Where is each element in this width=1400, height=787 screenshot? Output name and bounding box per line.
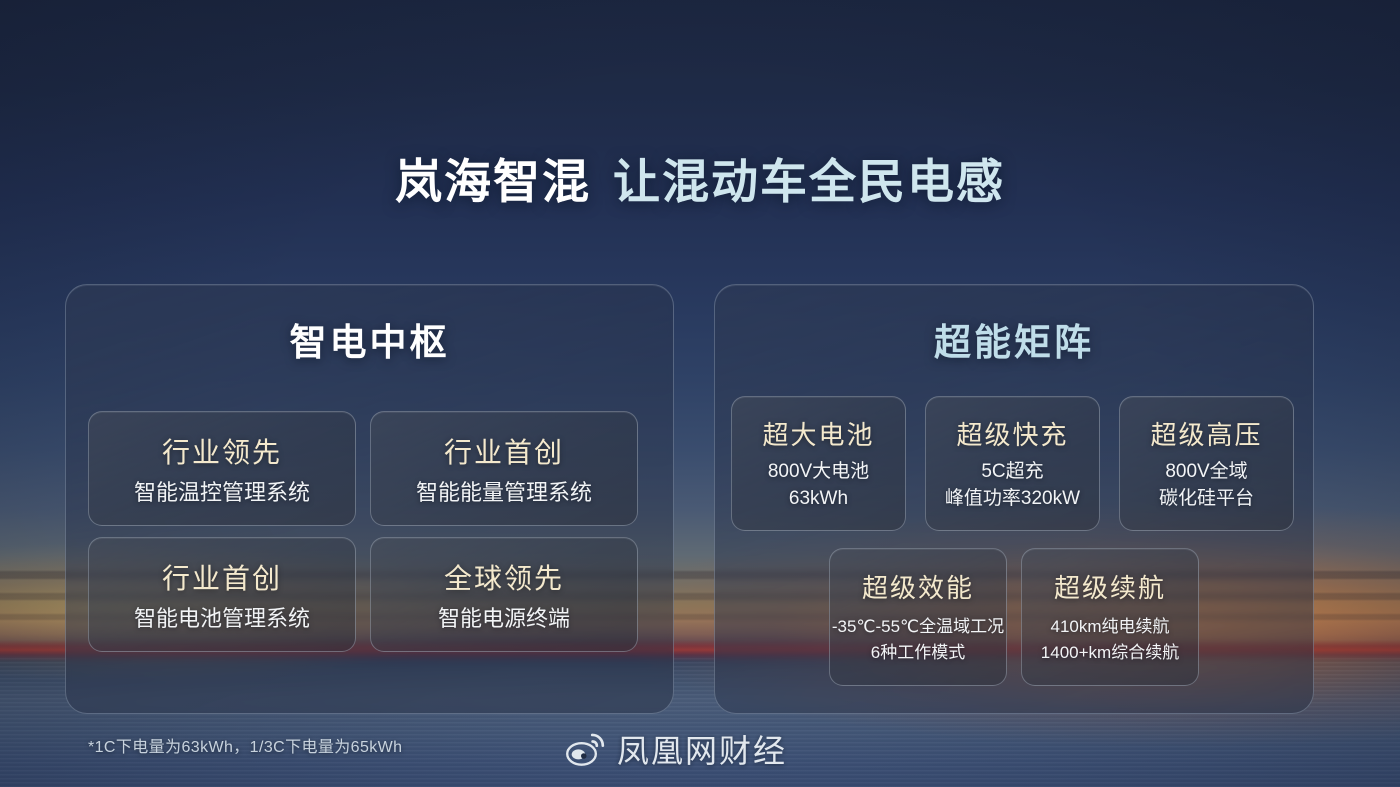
feature-card-title: 超级续航 (1054, 568, 1166, 605)
slide-title-main: 岚海智混 (395, 155, 591, 208)
feature-card-title: 超级效能 (862, 568, 974, 605)
watermark-text: 凤凰网财经 (617, 726, 787, 772)
feature-card-line: 63kWh (789, 486, 848, 513)
feature-card-title: 行业领先 (162, 431, 282, 471)
slide-title-sub: 让混动车全民电感 (613, 155, 1005, 208)
feature-card-line: 智能温控管理系统 (134, 475, 310, 507)
feature-card[interactable]: 全球领先 智能电源终端 (370, 537, 638, 652)
feature-card[interactable]: 超级快充 5C超充 峰值功率320kW (925, 396, 1100, 531)
feature-card[interactable]: 行业首创 智能能量管理系统 (370, 411, 638, 526)
feature-card[interactable]: 超级续航 410km纯电续航 1400+km综合续航 (1021, 548, 1199, 686)
feature-card-title: 全球领先 (444, 557, 564, 597)
feature-card-title: 超级快充 (956, 415, 1068, 452)
panel-right-title: 超能矩阵 (715, 312, 1313, 366)
feature-card-line: -35℃-55℃全温域工况 (832, 614, 1004, 640)
feature-card-line: 410km纯电续航 (1050, 614, 1169, 640)
feature-card-line: 碳化硅平台 (1159, 486, 1254, 513)
feature-card[interactable]: 行业首创 智能电池管理系统 (88, 537, 356, 652)
weibo-icon (566, 732, 606, 766)
feature-card[interactable]: 超级效能 -35℃-55℃全温域工况 6种工作模式 (829, 548, 1007, 686)
watermark: 凤凰网财经 (566, 726, 787, 772)
slide-title: 岚海智混让混动车全民电感 (0, 143, 1400, 212)
feature-card[interactable]: 超大电池 800V大电池 63kWh (731, 396, 906, 531)
feature-card[interactable]: 超级高压 800V全域 碳化硅平台 (1119, 396, 1294, 531)
feature-card-line: 峰值功率320kW (945, 486, 1080, 513)
feature-card-title: 超大电池 (762, 415, 874, 452)
feature-card-line: 6种工作模式 (871, 640, 965, 666)
feature-card-line: 智能电池管理系统 (134, 601, 310, 633)
feature-card-line: 5C超充 (981, 459, 1043, 486)
panel-left-title: 智电中枢 (66, 312, 673, 366)
feature-card-line: 1400+km综合续航 (1041, 640, 1179, 666)
feature-card-line: 智能电源终端 (438, 601, 570, 633)
slide-canvas: 岚海智混让混动车全民电感 智电中枢 行业领先 智能温控管理系统 行业首创 智能能… (0, 0, 1400, 787)
feature-card-line: 智能能量管理系统 (416, 475, 592, 507)
feature-card-title: 行业首创 (162, 557, 282, 597)
feature-card-title: 超级高压 (1150, 415, 1262, 452)
feature-card-title: 行业首创 (444, 431, 564, 471)
feature-card-line: 800V全域 (1165, 459, 1247, 486)
footnote: *1C下电量为63kWh，1/3C下电量为65kWh (88, 733, 402, 757)
feature-card[interactable]: 行业领先 智能温控管理系统 (88, 411, 356, 526)
feature-card-line: 800V大电池 (768, 459, 869, 486)
